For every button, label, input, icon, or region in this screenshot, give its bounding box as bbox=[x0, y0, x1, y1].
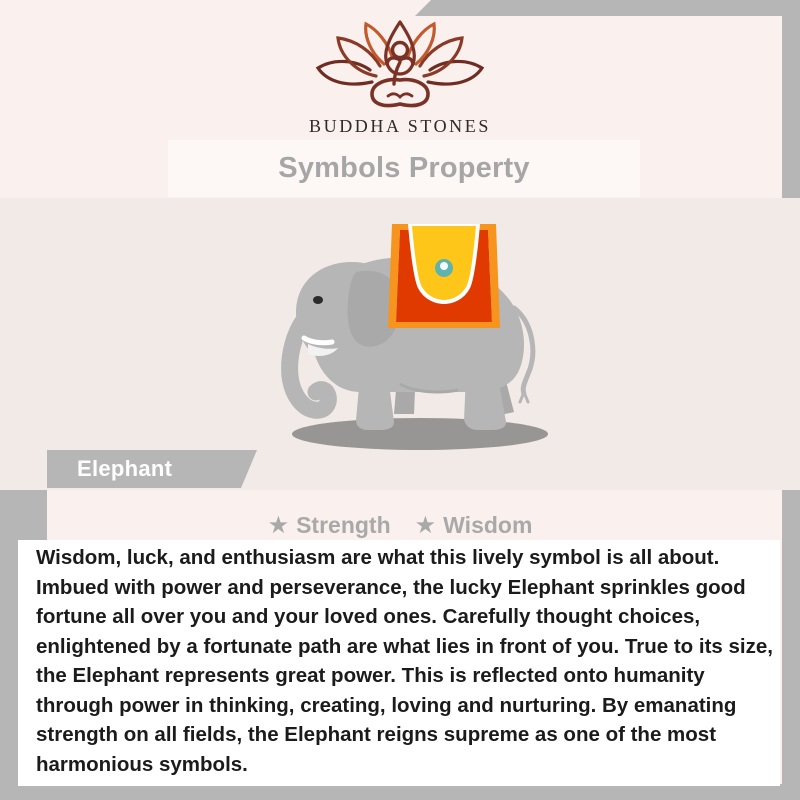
star-icon: ★ bbox=[268, 514, 290, 538]
symbol-name: Elephant bbox=[77, 456, 172, 482]
brand-name: BUDDHA STONES bbox=[285, 116, 515, 137]
illustration-inner bbox=[47, 198, 782, 490]
page-title-banner: Symbols Property bbox=[168, 140, 640, 197]
property-wisdom: ★ Wisdom bbox=[415, 512, 533, 539]
symbol-property-card: BUDDHA STONES Symbols Property bbox=[0, 0, 800, 800]
symbol-properties: ★ Strength ★ Wisdom bbox=[0, 512, 800, 539]
brand-logo: BUDDHA STONES bbox=[285, 18, 515, 137]
description-panel: Wisdom, luck, and enthusiasm are what th… bbox=[18, 540, 780, 786]
elephant-illustration bbox=[252, 216, 582, 466]
symbol-description: Wisdom, luck, and enthusiasm are what th… bbox=[36, 543, 774, 779]
property-label-strength: Strength bbox=[296, 512, 391, 539]
illustration-band bbox=[0, 198, 800, 490]
decor-bottom-bar bbox=[0, 784, 800, 800]
property-strength: ★ Strength bbox=[268, 512, 391, 539]
property-label-wisdom: Wisdom bbox=[443, 512, 532, 539]
symbol-name-banner: Elephant bbox=[47, 450, 257, 488]
header: BUDDHA STONES bbox=[0, 0, 800, 140]
star-icon: ★ bbox=[415, 514, 437, 538]
lotus-meditation-icon bbox=[314, 18, 486, 114]
page-title: Symbols Property bbox=[278, 152, 529, 185]
